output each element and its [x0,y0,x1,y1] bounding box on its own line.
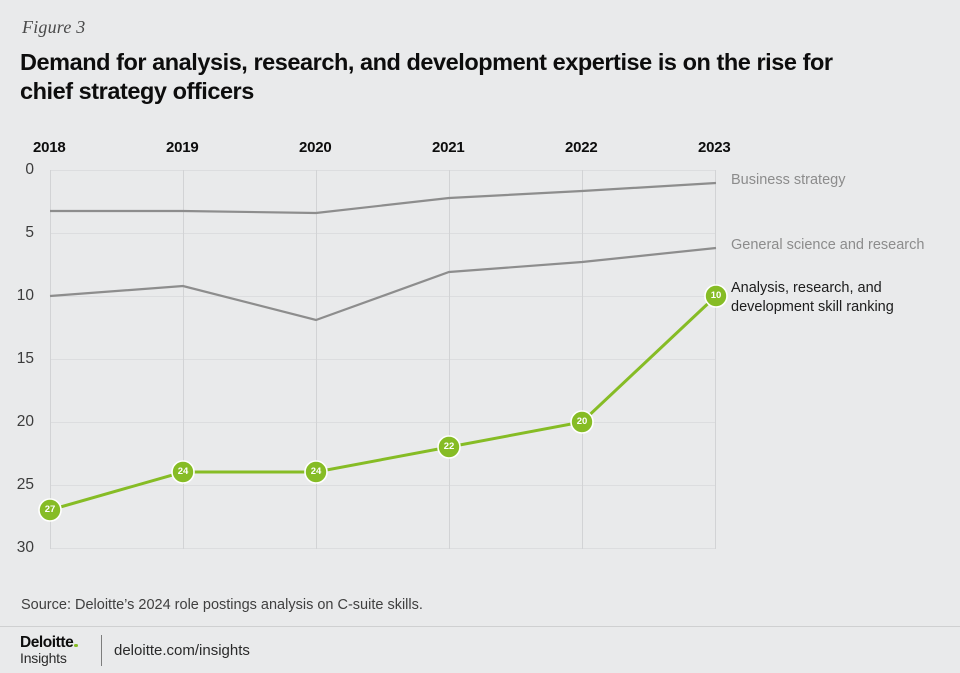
y-axis-tick-5: 5 [0,224,34,242]
horizontal-gridlines [50,171,716,549]
chart-plot-area: 27 24 24 22 20 10 2018 2019 2020 2021 20… [0,0,960,673]
source-note: Source: Deloitte’s 2024 role postings an… [21,597,423,613]
series-line-general-science [50,248,716,320]
x-axis-tick-2023: 2023 [698,139,731,156]
brand-subtitle: Insights [20,650,67,666]
y-axis-tick-0: 0 [0,161,34,179]
legend-label-analysis-research-development-line1: Analysis, research, and [731,279,882,298]
series-line-analysis-research-development [50,296,716,510]
legend-label-business-strategy: Business strategy [731,171,845,190]
legend-label-general-science-and-research: General science and research [731,236,924,255]
x-axis-tick-2018: 2018 [33,139,66,156]
x-axis-tick-2019: 2019 [166,139,199,156]
x-axis-tick-2020: 2020 [299,139,332,156]
brand-url: deloitte.com/insights [114,642,250,659]
y-axis-tick-20: 20 [0,413,34,431]
deloitte-insights-logo: Deloitte Insights deloitte.com/insights [20,634,320,668]
series-line-business-strategy [50,183,716,213]
brand-dot-icon [74,644,78,648]
y-axis-tick-30: 30 [0,539,34,557]
x-axis-tick-2021: 2021 [432,139,465,156]
brand-divider [101,635,102,666]
footer-divider [0,626,960,627]
legend-label-analysis-research-development-line2: development skill ranking [731,298,894,317]
figure-canvas: Figure 3 Demand for analysis, research, … [0,0,960,673]
line-chart-svg [0,0,960,673]
brand-name-text: Deloitte [20,634,73,651]
y-axis-tick-25: 25 [0,476,34,494]
x-axis-tick-2022: 2022 [565,139,598,156]
y-axis-tick-10: 10 [0,287,34,305]
y-axis-tick-15: 15 [0,350,34,368]
